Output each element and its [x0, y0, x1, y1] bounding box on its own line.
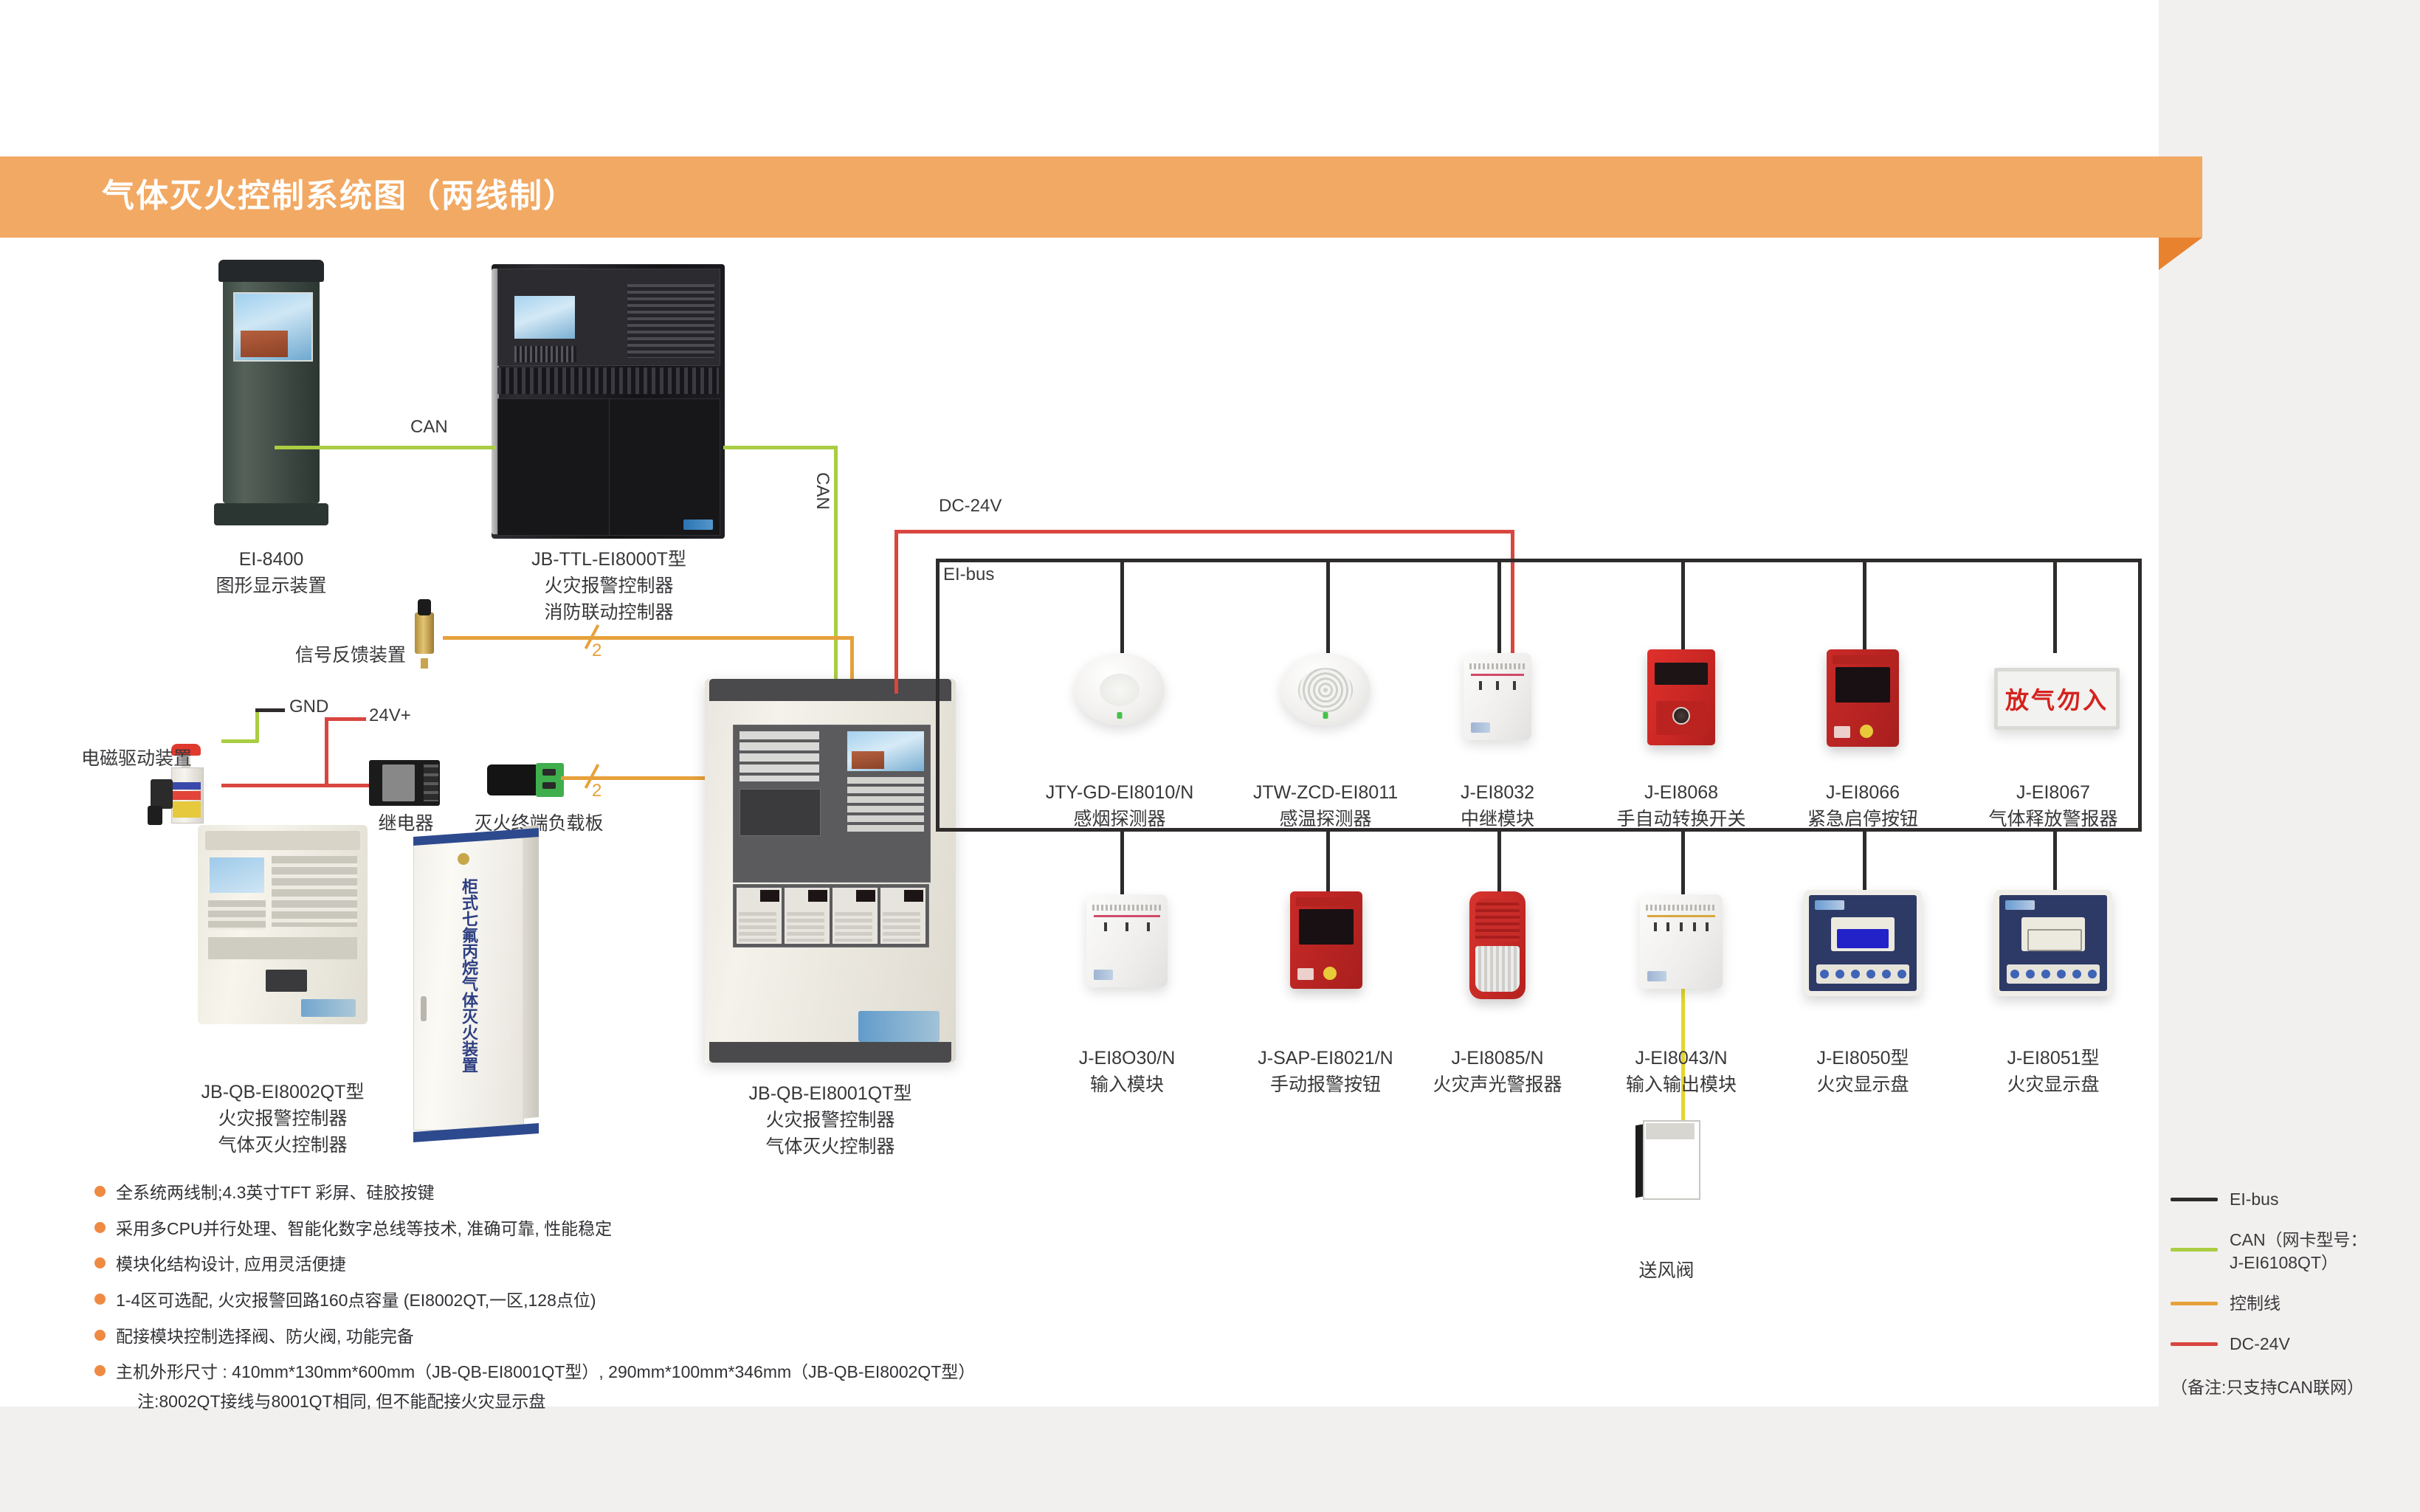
device-ei8400-graphic-display [214, 260, 328, 525]
ei-bus-top [936, 559, 2142, 562]
label-8001-line3: 气体灭火控制器 [720, 1135, 941, 1159]
legend-swatch-control [2171, 1302, 2218, 1305]
device-heat-detector [1280, 653, 1371, 725]
device-emergency-start-stop-button[interactable] [1827, 649, 1899, 747]
device-extinguish-load-board [487, 759, 564, 801]
dc24-bus-right-drop [1511, 530, 1514, 654]
drop-top-1 [1120, 559, 1124, 653]
legend-can-line2: J-EI6108QT） [2230, 1252, 2368, 1274]
label-signal-feedback: 信号反馈装置 [280, 643, 406, 668]
control-wire-feedback [443, 636, 852, 640]
drop-top-6 [2053, 559, 2057, 653]
legend-item-ei-bus: EI-bus [2171, 1188, 2392, 1211]
drop-bot-3 [1497, 828, 1501, 894]
device-input-output-module [1640, 894, 1723, 989]
diagram-page: 气体灭火控制系统图（两线制） EI-8400 图形显示装置 JB-TTL-EI8… [0, 0, 2420, 1512]
device-smoke-detector [1075, 653, 1165, 725]
legend-item-dc24v: DC-24V [2171, 1333, 2392, 1356]
drop-bot-5 [1863, 828, 1866, 894]
drop-top-2 [1326, 559, 1330, 653]
label-sign-name: 气体释放警报器 [1942, 807, 2164, 832]
list-item: 1-4区可选配, 火灾报警回路160点容量 (EI8002QT,一区,128点位… [94, 1288, 1202, 1313]
dc24-wire-solenoid [221, 784, 369, 787]
gnd-wire-h [221, 739, 258, 743]
label-emergency-name: 紧急启停按钮 [1752, 807, 1973, 832]
label-smoke-model: JTY-GD-EI8010/N [1009, 781, 1230, 805]
label-8001-line2: 火灾报警控制器 [720, 1108, 941, 1133]
label-input-module-model: J-EI8O30/N [1016, 1046, 1238, 1071]
bullet-dot-icon [94, 1257, 106, 1268]
label-input-module-name: 输入模块 [1016, 1073, 1238, 1097]
device-air-supply-damper [1635, 1120, 1697, 1197]
drop-bot-2 [1326, 828, 1330, 894]
bullet-dot-icon [94, 1365, 106, 1376]
legend-swatch-can [2171, 1248, 2218, 1252]
device-manual-auto-switch [1647, 649, 1715, 745]
label-gas-cabinet-vertical: 柜式七氟丙烷气体灭火装置 [456, 878, 478, 1073]
label-ei8400-model: EI-8400 [170, 548, 373, 572]
legend-item-control: 控制线 [2171, 1292, 2392, 1315]
bullet-dot-icon [94, 1330, 106, 1341]
list-item: 采用多CPU并行处理、智能化数字总线等技术, 准确可靠, 性能稳定 [94, 1217, 1202, 1241]
label-8001-model: JB-QB-EI8001QT型 [720, 1082, 941, 1106]
legend-note: （备注:只支持CAN联网） [2171, 1373, 2392, 1398]
device-signal-feedback [403, 596, 446, 669]
list-item: 模块化结构设计, 应用灵活便捷 [94, 1252, 1202, 1277]
label-ei-bus: EI-bus [943, 565, 994, 585]
can-wire-horizontal-right [723, 446, 838, 449]
label-sign-model: J-EI8067 [1942, 781, 2164, 805]
can-wire-vertical [834, 446, 838, 689]
dc24-bus-horizontal [894, 530, 1514, 534]
bullet-dot-icon [94, 1186, 106, 1197]
gnd-wire-v [255, 708, 259, 742]
label-gnd: GND [289, 697, 328, 717]
label-dc24v-bus: DC-24V [939, 496, 1002, 517]
label-24v-plus: 24V+ [369, 705, 411, 726]
label-fdp8050-model: J-EI8050型 [1752, 1046, 1973, 1071]
dc24-wire-vertical [325, 717, 328, 785]
bullet-note: 注:8002QT接线与8001QT相同, 但不能配接火灾显示盘 [137, 1387, 975, 1412]
ei-bus-left [936, 559, 940, 832]
drop-top-4 [1681, 559, 1685, 653]
drop-top-5 [1863, 559, 1866, 653]
label-smoke-name: 感烟探测器 [1009, 807, 1230, 832]
drop-bot-6 [2053, 828, 2057, 894]
device-relay-module [1464, 653, 1531, 740]
spec-bullet-list: 全系统两线制;4.3英寸TFT 彩屏、硅胶按键 采用多CPU并行处理、智能化数字… [94, 1181, 1202, 1424]
list-item: 主机外形尺寸 : 410mm*130mm*600mm（JB-QB-EI8001Q… [94, 1360, 1202, 1412]
label-8002-line2: 火灾报警控制器 [172, 1107, 393, 1131]
device-manual-call-point[interactable] [1290, 891, 1362, 989]
dc24-bus-left-riser [894, 530, 898, 694]
legend-item-can: CAN（网卡型号： J-EI6108QT） [2171, 1229, 2392, 1274]
legend-swatch-dc24v [2171, 1342, 2218, 1346]
label-ei8000t-line3: 消防联动控制器 [487, 601, 731, 625]
label-pair-count-top: 2 [592, 641, 601, 661]
wiring-legend: EI-bus CAN（网卡型号： J-EI6108QT） 控制线 DC-24V … [2171, 1188, 2392, 1398]
drop-top-3 [1497, 559, 1501, 653]
device-fire-display-panel-8050 [1804, 890, 1922, 996]
label-ei8000t-model: JB-TTL-EI8000T型 [487, 548, 731, 572]
label-8002-model: JB-QB-EI8002QT型 [172, 1080, 393, 1105]
label-fdp8051-model: J-EI8051型 [1942, 1046, 2164, 1071]
label-can-vertical: CAN [812, 472, 832, 510]
device-fire-display-panel-8051 [1994, 890, 2112, 996]
legend-swatch-ei-bus [2171, 1198, 2218, 1201]
banner-fold-corner [2159, 238, 2202, 270]
device-sounder-strobe [1469, 891, 1526, 999]
can-wire-horizontal [275, 446, 496, 449]
gnd-wire-top [255, 708, 285, 712]
label-pair-count-bottom: 2 [592, 781, 601, 801]
label-fdp8050-name: 火灾显示盘 [1752, 1073, 1973, 1097]
gas-sign-text: 放气勿入 [2005, 682, 2109, 716]
device-input-module [1086, 894, 1168, 987]
device-gas-extinguish-cabinet: 柜式七氟丙烷气体灭火装置 [413, 826, 539, 1136]
dc24-wire-top [325, 717, 366, 721]
label-8002-line3: 气体灭火控制器 [172, 1133, 393, 1158]
drop-bot-4 [1681, 828, 1685, 894]
device-jb-qb-ei8002qt-panel [198, 825, 368, 1024]
label-fdp8051-name: 火灾显示盘 [1942, 1073, 2164, 1097]
device-jb-ttl-ei8000t-cabinet [492, 264, 725, 539]
device-relay [369, 760, 440, 806]
list-item: 配接模块控制选择阀、防火阀, 功能完备 [94, 1325, 1202, 1349]
bullet-dot-icon [94, 1294, 106, 1305]
label-damper: 送风阀 [1600, 1259, 1733, 1283]
bullet-dot-icon [94, 1222, 106, 1233]
device-gas-release-warning-sign: 放气勿入 [1994, 668, 2120, 730]
device-jb-qb-ei8001qt-panel [705, 679, 956, 1063]
drop-bot-1 [1120, 828, 1124, 894]
label-can-left: CAN [410, 417, 448, 438]
list-item: 全系统两线制;4.3英寸TFT 彩屏、硅胶按键 [94, 1181, 1202, 1205]
page-title: 气体灭火控制系统图（两线制） [102, 169, 577, 216]
label-solenoid-driver: 电磁驱动装置 [52, 747, 192, 771]
label-ei8400-name: 图形显示装置 [170, 574, 373, 598]
label-ei8000t-line2: 火灾报警控制器 [487, 574, 731, 598]
label-emergency-model: J-EI8066 [1752, 781, 1973, 805]
